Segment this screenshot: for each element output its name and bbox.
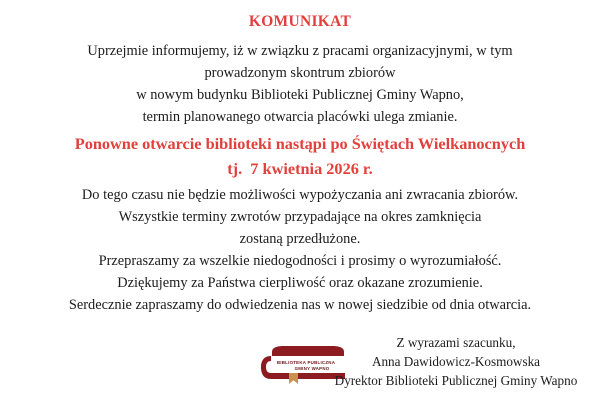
intro-paragraph: Uprzejmie informujemy, iż w związku z pr…: [10, 40, 590, 128]
body-line: Wszystkie terminy zwrotów przypadające n…: [10, 206, 590, 228]
body-line: prowadzonym skontrum zbiorów: [10, 62, 590, 84]
highlight-line: Ponowne otwarcie biblioteki nastąpi po Ś…: [10, 131, 590, 156]
body-line: Do tego czasu nie będzie możliwości wypo…: [10, 184, 590, 206]
signature-block: Z wyrazami szacunku, Anna Dawidowicz-Kos…: [326, 333, 586, 390]
signature-role: Dyrektor Biblioteki Publicznej Gminy Wap…: [326, 371, 586, 390]
details-paragraph: Do tego czasu nie będzie możliwości wypo…: [10, 184, 590, 316]
body-line: Dziękujemy za Państwa cierpliwość oraz o…: [10, 272, 590, 294]
signature-closing: Z wyrazami szacunku,: [326, 333, 586, 352]
reopening-highlight: Ponowne otwarcie biblioteki nastąpi po Ś…: [10, 131, 590, 181]
body-line: zostaną przedłużone.: [10, 228, 590, 250]
logo-line2: GMINY WAPNO: [295, 366, 330, 371]
document-footer: BIBLIOTEKA PUBLICZNA GMINY WAPNO Z wyraz…: [0, 330, 600, 396]
page-title: KOMUNIKAT: [10, 12, 590, 32]
announcement-document: KOMUNIKAT Uprzejmie informujemy, iż w zw…: [0, 0, 600, 400]
highlight-line: tj. 7 kwietnia 2026 r.: [10, 156, 590, 181]
body-line: Uprzejmie informujemy, iż w związku z pr…: [10, 40, 590, 62]
body-line: Przepraszamy za wszelkie niedogodności i…: [10, 250, 590, 272]
body-line: w nowym budynku Biblioteki Publicznej Gm…: [10, 84, 590, 106]
body-line: termin planowanego otwarcia placówki ule…: [10, 106, 590, 128]
signature-name: Anna Dawidowicz-Kosmowska: [326, 352, 586, 371]
body-line: Serdecznie zapraszamy do odwiedzenia nas…: [10, 294, 590, 316]
